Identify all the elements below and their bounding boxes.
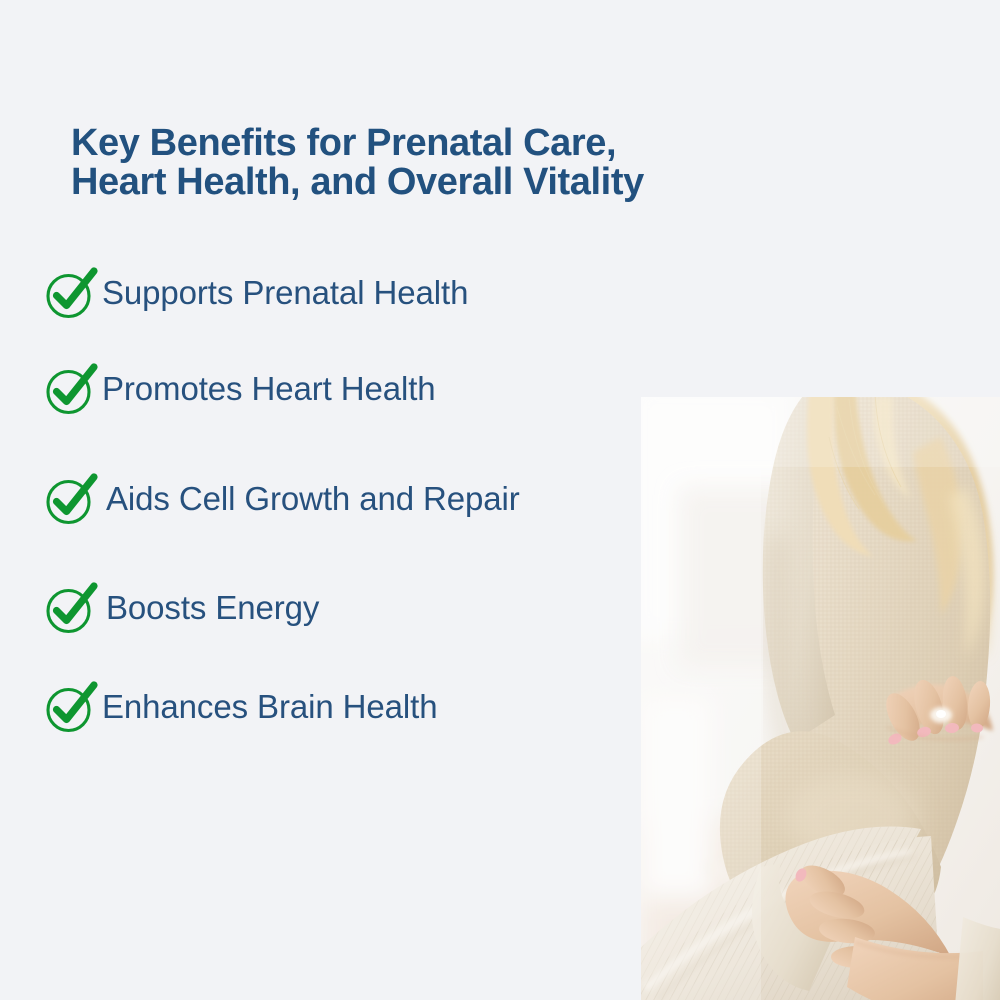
- benefit-item: Aids Cell Growth and Repair: [44, 471, 520, 527]
- check-circle-icon: [44, 472, 98, 526]
- benefit-item: Promotes Heart Health: [44, 361, 436, 417]
- benefit-item: Supports Prenatal Health: [44, 265, 468, 321]
- benefit-label: Boosts Energy: [106, 588, 319, 628]
- benefit-label: Aids Cell Growth and Repair: [106, 479, 520, 519]
- check-circle-icon: [44, 266, 98, 320]
- benefit-item: Boosts Energy: [44, 580, 319, 636]
- benefit-label: Supports Prenatal Health: [102, 273, 468, 313]
- benefit-item: Enhances Brain Health: [44, 679, 437, 735]
- benefit-label: Enhances Brain Health: [102, 687, 437, 727]
- prenatal-benefits-graphic: Key Benefits for Prenatal Care, Heart He…: [0, 0, 1000, 1000]
- check-circle-icon: [44, 581, 98, 635]
- check-circle-icon: [44, 680, 98, 734]
- benefits-list: Supports Prenatal HealthPromotes Heart H…: [0, 0, 640, 1000]
- check-circle-icon: [44, 362, 98, 416]
- benefit-label: Promotes Heart Health: [102, 369, 436, 409]
- pregnant-woman-photo: [641, 397, 1000, 1000]
